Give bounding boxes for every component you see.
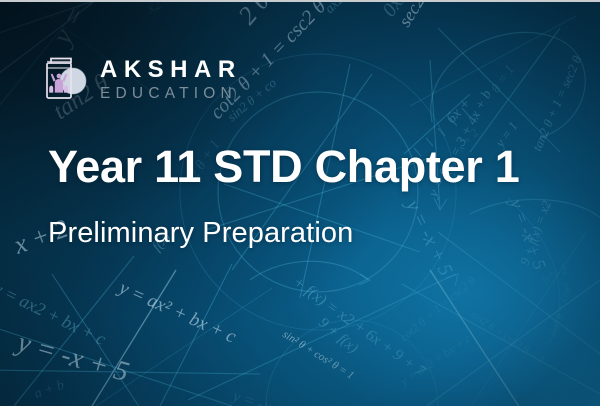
logo-mark (42, 56, 88, 104)
brand-logo: AKSHAR EDUCATION (42, 56, 242, 104)
logo-name: AKSHAR (100, 57, 242, 82)
slide-title: Year 11 STD Chapter 1 (48, 141, 519, 193)
slide-subtitle: Preliminary Preparation (48, 216, 353, 251)
logo-tagline: EDUCATION (100, 84, 242, 103)
slide-content: AKSHAR EDUCATION Year 11 STD Chapter 1 P… (0, 2, 600, 406)
logo-wordmark: AKSHAR EDUCATION (100, 57, 242, 104)
presentation-slide: .ln { stroke:#4fc3e8; stroke-opacity:.30… (0, 0, 600, 406)
